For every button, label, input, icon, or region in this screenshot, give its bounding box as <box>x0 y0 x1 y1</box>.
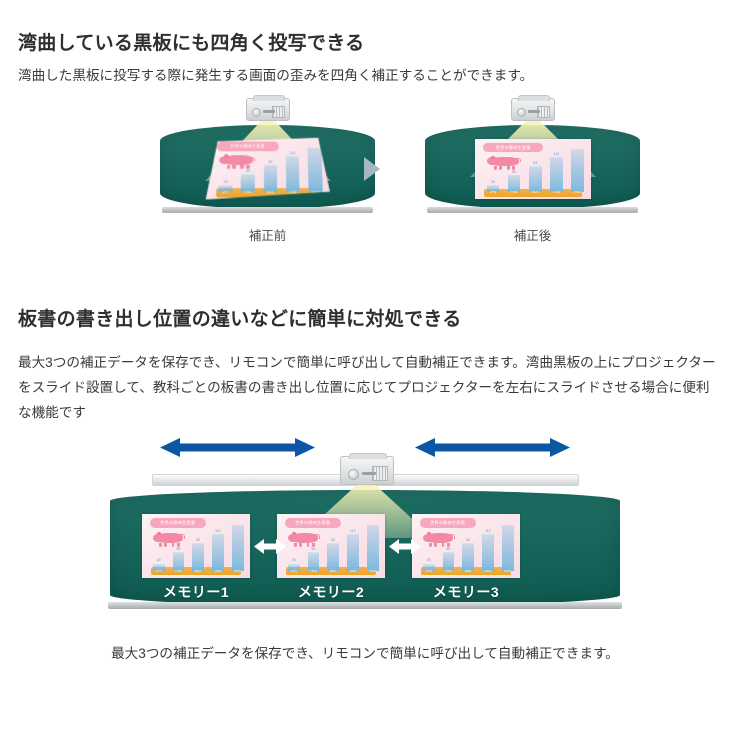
bar-item: 20 <box>288 522 300 571</box>
bar-item: 112 <box>482 522 494 571</box>
bar-item: 55 <box>508 147 521 193</box>
triangle-right-icon <box>364 157 380 181</box>
bar-item: 112 <box>286 146 300 193</box>
bar-item: 83 <box>462 522 474 571</box>
bar-value-label: 55 <box>446 548 450 552</box>
bar <box>264 165 278 192</box>
bar-item <box>367 522 379 571</box>
axis-tick-label: FRA <box>173 570 185 573</box>
axis-tick-label: FRA <box>508 191 521 194</box>
bar-item: 20 <box>423 522 435 571</box>
bar-value-label: 83 <box>268 161 272 165</box>
axis-tick-label: BUS <box>462 570 474 573</box>
bar-item: 55 <box>241 146 255 193</box>
axis-tick-label: JPN <box>487 191 500 194</box>
double-arrow-horizontal-icon <box>389 538 421 555</box>
bar <box>482 534 494 571</box>
axis-tick-label: JPN <box>288 570 300 573</box>
bar <box>462 543 474 571</box>
board-label-before: 補正前 <box>160 225 375 244</box>
bar-item: 55 <box>443 522 455 571</box>
section-heading-curved-board: 湾曲している黒板にも四角く投写できる <box>18 28 364 55</box>
projected-slide-memory-3: 世界の豚肉生産量 205583112 JPNFRABUSUSARUS <box>412 514 520 578</box>
figure-memory-positions: 世界の豚肉生産量 205583112 JPNFRABUSUSARUS 世界の豚肉… <box>0 430 730 620</box>
bar-item: 20 <box>218 146 233 193</box>
section-heading-memory: 板書の書き出し位置の違いなどに簡単に対処できる <box>18 304 462 331</box>
axis-tick-label: USA <box>347 570 359 573</box>
bar <box>550 157 563 192</box>
bar-value-label: 112 <box>290 152 296 156</box>
projector-brand-mark <box>528 110 540 113</box>
bar-value-label: 55 <box>176 548 180 552</box>
chart-axis-labels: JPNFRABUSUSARUS <box>487 190 584 197</box>
projector-icon <box>246 98 290 121</box>
bar <box>347 534 359 571</box>
projector-lens-icon <box>348 469 359 480</box>
bar <box>529 166 542 192</box>
page-root: 湾曲している黒板にも四角く投写できる 湾曲した黒板に投写する際に発生する画面の歪… <box>0 0 730 730</box>
bar-item <box>502 522 514 571</box>
bar <box>308 148 323 193</box>
axis-tick-label: FRA <box>241 191 255 194</box>
projected-slide-distorted: 世界の豚肉生産量 205583112 JPNFRABUSUSARUS <box>206 138 331 200</box>
bar-value-label: 55 <box>246 170 250 174</box>
memory-slides-group: 世界の豚肉生産量 205583112 JPNFRABUSUSARUS 世界の豚肉… <box>124 496 538 606</box>
bar-value-label: 83 <box>466 539 470 543</box>
projector-brand-mark <box>362 472 376 475</box>
axis-tick-label: JPN <box>218 191 232 194</box>
board-unit-after: 世界の豚肉生産量 205583112 JPNFRABUSUSARUS 補正後 <box>425 95 640 223</box>
bar-item: 112 <box>347 522 359 571</box>
chart-bars: 205583112 <box>288 522 379 571</box>
axis-tick-label: RUS <box>232 570 244 573</box>
bottom-caption: 最大3つの補正データを保存でき、リモコンで簡単に呼び出して自動補正できます。 <box>0 642 730 662</box>
memory-label-1: メモリー1 <box>142 582 250 602</box>
bar-value-label: 20 <box>157 559 161 563</box>
double-arrow-horizontal-icon <box>160 438 315 457</box>
bar-value-label: 20 <box>427 559 431 563</box>
bar-value-label: 112 <box>554 153 560 157</box>
bar-item: 83 <box>529 147 542 193</box>
projector-icon <box>511 98 555 121</box>
bar-item: 55 <box>173 522 185 571</box>
chart-bars: 205583112 <box>153 522 244 571</box>
bar-item: 112 <box>212 522 224 571</box>
projected-slide-memory-1: 世界の豚肉生産量 205583112 JPNFRABUSUSARUS <box>142 514 250 578</box>
projected-slide-memory-2: 世界の豚肉生産量 205583112 JPNFRABUSUSARUS <box>277 514 385 578</box>
bar-item <box>232 522 244 571</box>
projector-icon <box>340 456 394 485</box>
section-lead-curved-board: 湾曲した黒板に投写する際に発生する画面の歪みを四角く補正することができます。 <box>18 63 718 88</box>
double-arrow-horizontal-icon <box>254 538 286 555</box>
chart-bars: 205583112 <box>487 147 584 193</box>
bar-item: 20 <box>487 147 500 193</box>
bar <box>367 525 379 571</box>
axis-tick-label: RUS <box>571 191 584 194</box>
double-arrow-horizontal-icon <box>415 438 570 457</box>
bar <box>502 525 514 571</box>
bar-item: 20 <box>153 522 165 571</box>
axis-tick-label: FRA <box>443 570 455 573</box>
bar <box>571 149 584 193</box>
axis-tick-label: RUS <box>367 570 379 573</box>
projected-slide-corrected: 世界の豚肉生産量 205583112 JPNFRABUSUSARUS <box>475 139 591 199</box>
bar-value-label: 83 <box>331 539 335 543</box>
bar <box>192 543 204 571</box>
figure-before-after: 世界の豚肉生産量 205583112 JPNFRABUSUSARUS 補正前 <box>0 95 730 250</box>
section-lead-memory: 最大3つの補正データを保存でき、リモコンで簡単に呼び出して自動補正できます。湾曲… <box>18 350 718 425</box>
bar <box>232 525 244 571</box>
axis-tick-label: FRA <box>308 570 320 573</box>
axis-tick-label: BUS <box>327 570 339 573</box>
chalkboard-tray <box>427 207 638 213</box>
board-label-after: 補正後 <box>425 225 640 244</box>
bar-value-label: 55 <box>311 548 315 552</box>
chalkboard-tray <box>162 207 373 213</box>
chart-axis-labels: JPNFRABUSUSARUS <box>288 568 379 575</box>
axis-tick-label: USA <box>482 570 494 573</box>
bar <box>212 534 224 571</box>
projector-brand-mark <box>263 110 275 113</box>
bar-item: 83 <box>192 522 204 571</box>
axis-tick-label: USA <box>212 570 224 573</box>
bar-value-label: 112 <box>485 530 491 534</box>
axis-tick-label: BUS <box>529 191 542 194</box>
bar-item: 83 <box>327 522 339 571</box>
axis-tick-label: BUS <box>192 570 204 573</box>
projector-lens-icon <box>252 108 261 117</box>
bar-value-label: 83 <box>533 162 537 166</box>
bar-value-label: 20 <box>491 181 495 185</box>
axis-tick-label: JPN <box>423 570 435 573</box>
bar-item: 112 <box>550 147 563 193</box>
chart-axis-labels: JPNFRABUSUSARUS <box>153 568 244 575</box>
bar-item <box>308 146 323 193</box>
bar-value-label: 112 <box>350 530 356 534</box>
bar-value-label: 20 <box>223 181 227 185</box>
chart-axis-labels: JPNFRABUSUSARUS <box>423 568 514 575</box>
bar-item: 83 <box>264 146 278 193</box>
axis-tick-label: RUS <box>502 570 514 573</box>
memory-label-3: メモリー3 <box>412 582 520 602</box>
bar-value-label: 55 <box>512 171 516 175</box>
bar <box>327 543 339 571</box>
bar <box>286 156 300 192</box>
bar-value-label: 112 <box>215 530 221 534</box>
board-unit-before: 世界の豚肉生産量 205583112 JPNFRABUSUSARUS 補正前 <box>160 95 375 223</box>
chart-bars: 205583112 <box>423 522 514 571</box>
bar-item <box>571 147 584 193</box>
memory-label-2: メモリー2 <box>277 582 385 602</box>
bar-value-label: 83 <box>196 539 200 543</box>
bar-item: 55 <box>308 522 320 571</box>
bar-value-label: 20 <box>292 559 296 563</box>
chart-bars: 205583112 <box>218 146 322 193</box>
axis-tick-label: USA <box>550 191 563 194</box>
projector-lens-icon <box>517 108 526 117</box>
axis-tick-label: BUS <box>264 191 278 194</box>
axis-tick-label: JPN <box>153 570 165 573</box>
